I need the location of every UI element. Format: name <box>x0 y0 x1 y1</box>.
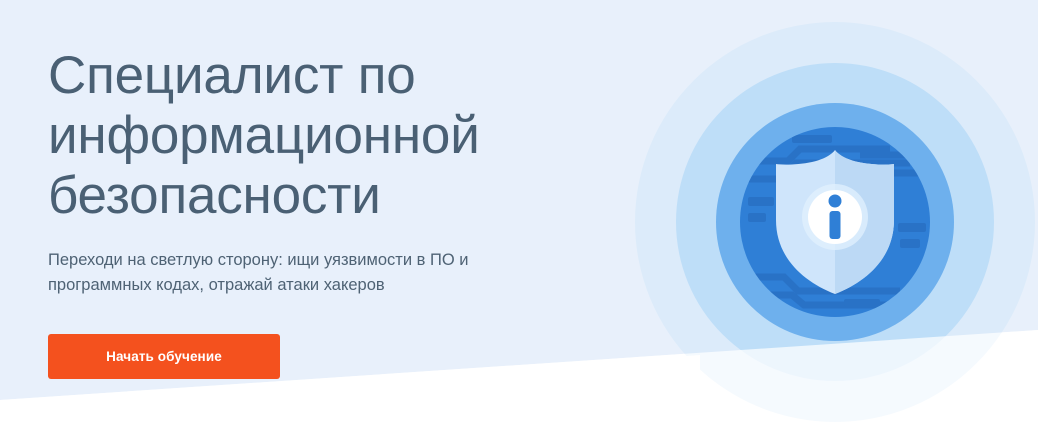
page-title: Специалист по информационной безопасност… <box>48 0 608 226</box>
hero-subtitle: Переходи на светлую сторону: ищи уязвимо… <box>48 226 548 298</box>
hero-banner: Специалист по информационной безопасност… <box>0 0 1038 447</box>
hero-content: Специалист по информационной безопасност… <box>48 0 608 379</box>
start-learning-button[interactable]: Начать обучение <box>48 334 280 379</box>
shield-icon <box>772 148 898 296</box>
